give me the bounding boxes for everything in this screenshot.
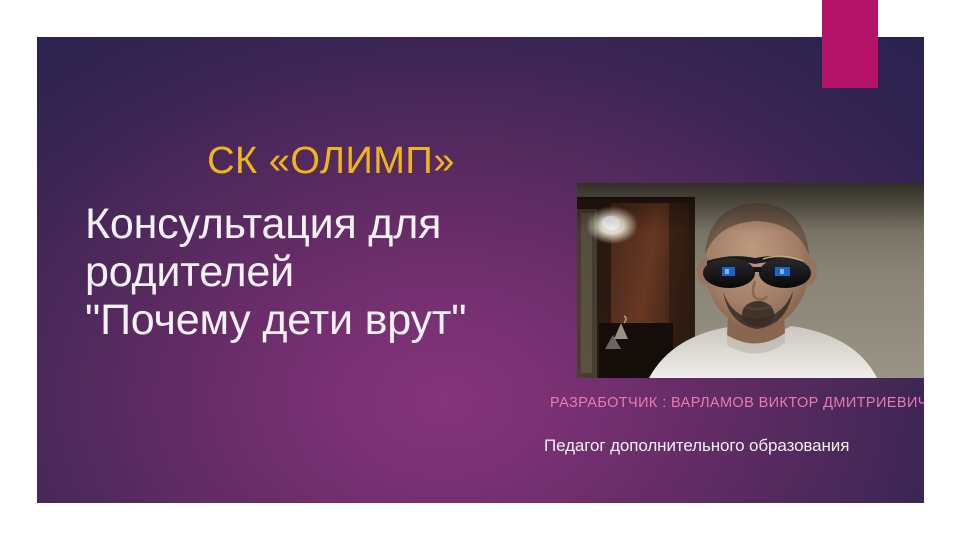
author-photo-image — [577, 183, 924, 378]
title-line-1: Консультация для — [85, 200, 585, 248]
credit-role: Педагог дополнительного образования — [544, 435, 924, 456]
slide-background-panel: СК «ОЛИМП» Консультация для родителей "П… — [37, 37, 924, 503]
title-line-3: "Почему дети врут" — [85, 296, 585, 344]
accent-block — [822, 0, 878, 88]
credit-developer: РАЗРАБОТЧИК : ВАРЛАМОВ ВИКТОР ДМИТРИЕВИЧ — [550, 394, 924, 413]
organization-heading: СК «ОЛИМП» — [141, 142, 521, 182]
slide-title: Консультация для родителей "Почему дети … — [85, 200, 585, 344]
author-photo — [577, 183, 924, 378]
title-line-2: родителей — [85, 248, 585, 296]
presentation-slide: СК «ОЛИМП» Консультация для родителей "П… — [0, 0, 960, 540]
